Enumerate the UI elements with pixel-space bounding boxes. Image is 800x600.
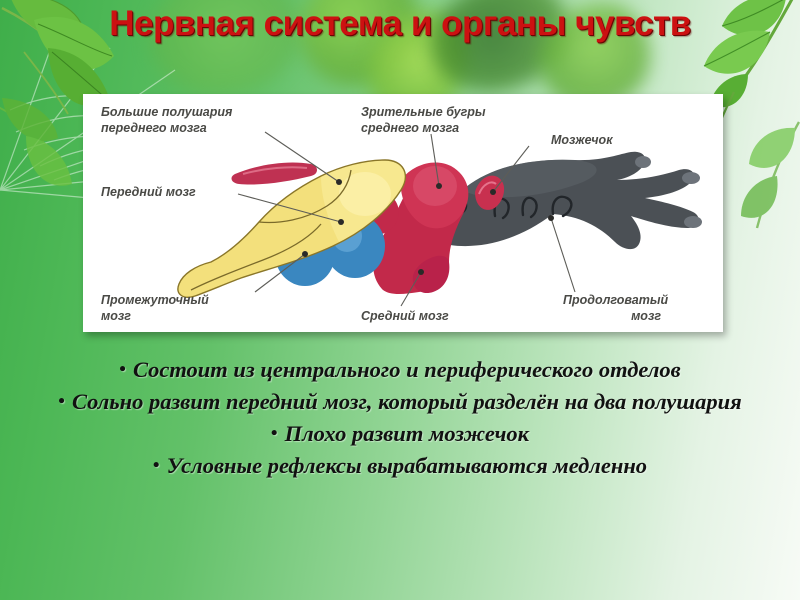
bullet-marker-1: •: [119, 359, 133, 380]
label-midbrain: Средний мозг: [361, 309, 449, 323]
bullet-list: •Состоит из центрального и периферическо…: [40, 354, 760, 482]
label-optic-tubercles-line2: среднего мозга: [361, 121, 459, 135]
bullet-marker-4: •: [153, 455, 167, 476]
label-diencephalon-line1: Промежуточный: [101, 293, 209, 307]
label-cerebellum: Мозжечок: [551, 133, 613, 147]
bullet-text-4: Условные рефлексы вырабатываются медленн…: [167, 453, 647, 478]
bullet-item-4: •Условные рефлексы вырабатываются медлен…: [40, 450, 760, 482]
brain-diagram-panel: Большие полушария переднего мозга Зрител…: [83, 94, 723, 332]
label-optic-tubercles-line1: Зрительные бугры: [361, 105, 486, 119]
label-big-hemispheres-line2: переднего мозга: [101, 121, 207, 135]
brain-diagram: Большие полушария переднего мозга Зрител…: [83, 94, 723, 332]
bullet-item-2: •Сольно развит передний мозг, который ра…: [40, 386, 760, 418]
bullet-text-1: Состоит из центрального и периферическог…: [133, 357, 681, 382]
label-medulla-line2: мозг: [631, 309, 661, 323]
label-forebrain: Передний мозг: [101, 185, 196, 199]
slide-canvas: Нервная система и органы чувств: [0, 0, 800, 600]
bullet-marker-3: •: [271, 423, 285, 444]
bullet-marker-2: •: [58, 391, 72, 412]
label-medulla-line1: Продолговатый: [563, 293, 669, 307]
bullet-item-3: •Плохо развит мозжечок: [40, 418, 760, 450]
label-diencephalon-line2: мозг: [101, 309, 131, 323]
bullet-item-1: •Состоит из центрального и периферическо…: [40, 354, 760, 386]
bullet-text-3: Плохо развит мозжечок: [285, 421, 530, 446]
bullet-text-2: Сольно развит передний мозг, который раз…: [72, 389, 742, 414]
brain-illustration: [178, 152, 702, 298]
leaf-sprig-right-icon: [711, 120, 800, 270]
label-big-hemispheres-line1: Большие полушария: [101, 105, 233, 119]
slide-title: Нервная система и органы чувств: [0, 4, 800, 44]
